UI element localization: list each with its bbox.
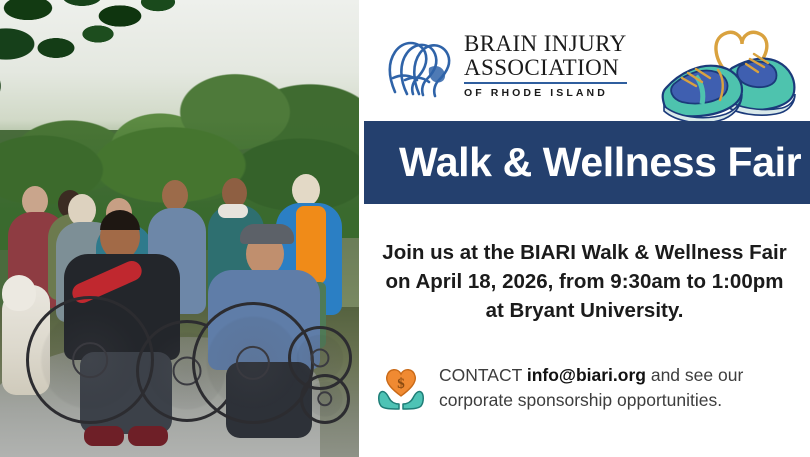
event-details-line-3: at Bryant University. bbox=[359, 296, 810, 325]
contact-prefix: CONTACT bbox=[439, 365, 527, 385]
event-details: Join us at the BIARI Walk & Wellness Fai… bbox=[359, 238, 810, 325]
event-poster: BRAIN INJURY ASSOCIATION OF RHODE ISLAND bbox=[0, 0, 810, 457]
contact-line-2: corporate sponsorship opportunities. bbox=[439, 388, 743, 413]
running-shoes-with-heart-laces-icon bbox=[654, 14, 802, 132]
content-panel: BRAIN INJURY ASSOCIATION OF RHODE ISLAND bbox=[359, 0, 810, 457]
title-banner: Walk & Wellness Fair bbox=[364, 121, 810, 204]
person-head bbox=[162, 180, 188, 211]
logo-divider bbox=[464, 82, 627, 84]
contact-email[interactable]: info@biari.org bbox=[527, 365, 646, 385]
person-cap bbox=[240, 224, 294, 244]
contact-line-1: CONTACT info@biari.org and see our bbox=[439, 363, 743, 388]
event-photo bbox=[0, 0, 359, 457]
overlapping-head-profiles-logo-icon bbox=[383, 30, 455, 100]
contact-suffix: and see our bbox=[646, 365, 743, 385]
dog-head bbox=[2, 275, 36, 311]
shoe bbox=[84, 426, 124, 446]
svg-text:$: $ bbox=[397, 376, 405, 392]
hands-holding-heart-donation-icon: $ bbox=[375, 362, 427, 414]
walker-group bbox=[0, 0, 359, 457]
logo-subtitle: OF RHODE ISLAND bbox=[464, 87, 627, 99]
organization-logo: BRAIN INJURY ASSOCIATION OF RHODE ISLAND bbox=[383, 30, 627, 100]
event-details-line-2: on April 18, 2026, from 9:30am to 1:00pm bbox=[359, 267, 810, 296]
header-row: BRAIN INJURY ASSOCIATION OF RHODE ISLAND bbox=[359, 0, 810, 121]
wheelchair-caster-wheel bbox=[300, 374, 350, 424]
logo-line-1: BRAIN INJURY bbox=[464, 32, 627, 55]
wheelchair-wheel bbox=[26, 296, 154, 424]
contact-text: CONTACT info@biari.org and see our corpo… bbox=[439, 360, 743, 413]
page-title: Walk & Wellness Fair bbox=[399, 142, 801, 183]
shoe bbox=[128, 426, 168, 446]
contact-row: $ CONTACT info@biari.org and see our cor… bbox=[375, 360, 810, 414]
event-details-line-1: Join us at the BIARI Walk & Wellness Fai… bbox=[359, 238, 810, 267]
logo-line-2: ASSOCIATION bbox=[464, 56, 627, 79]
person-scarf bbox=[218, 204, 248, 218]
logo-text-block: BRAIN INJURY ASSOCIATION OF RHODE ISLAND bbox=[464, 32, 627, 99]
person-head bbox=[292, 174, 320, 206]
